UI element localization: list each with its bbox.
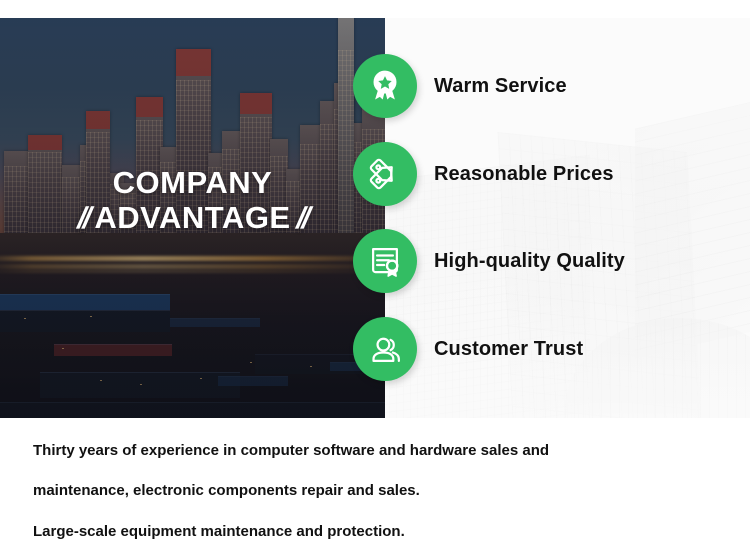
feature-item-high-quality[interactable]: High-quality Quality <box>353 229 625 293</box>
feature-item-warm-service[interactable]: Warm Service <box>353 54 567 118</box>
feature-item-customer-trust[interactable]: Customer Trust <box>353 317 583 381</box>
description-line-3: Large-scale equipment maintenance and pr… <box>33 521 723 542</box>
certificate-award-icon <box>353 229 417 293</box>
medal-star-icon <box>353 54 417 118</box>
feature-item-reasonable-prices[interactable]: Reasonable Prices <box>353 142 614 206</box>
description-block: Thirty years of experience in computer s… <box>33 440 723 542</box>
users-group-icon <box>353 317 417 381</box>
price-tags-icon <box>353 142 417 206</box>
description-line-1: Thirty years of experience in computer s… <box>33 440 723 461</box>
feature-label: Reasonable Prices <box>434 163 614 186</box>
feature-label: Customer Trust <box>434 338 583 361</box>
feature-list: Warm Service Reasonable Prices <box>0 18 750 418</box>
feature-label: High-quality Quality <box>434 250 625 273</box>
description-line-2: maintenance, electronic components repai… <box>33 480 723 501</box>
feature-label: Warm Service <box>434 75 567 98</box>
company-advantage-banner: COMPANY //ADVANTAGE// Warm Service <box>0 18 750 418</box>
